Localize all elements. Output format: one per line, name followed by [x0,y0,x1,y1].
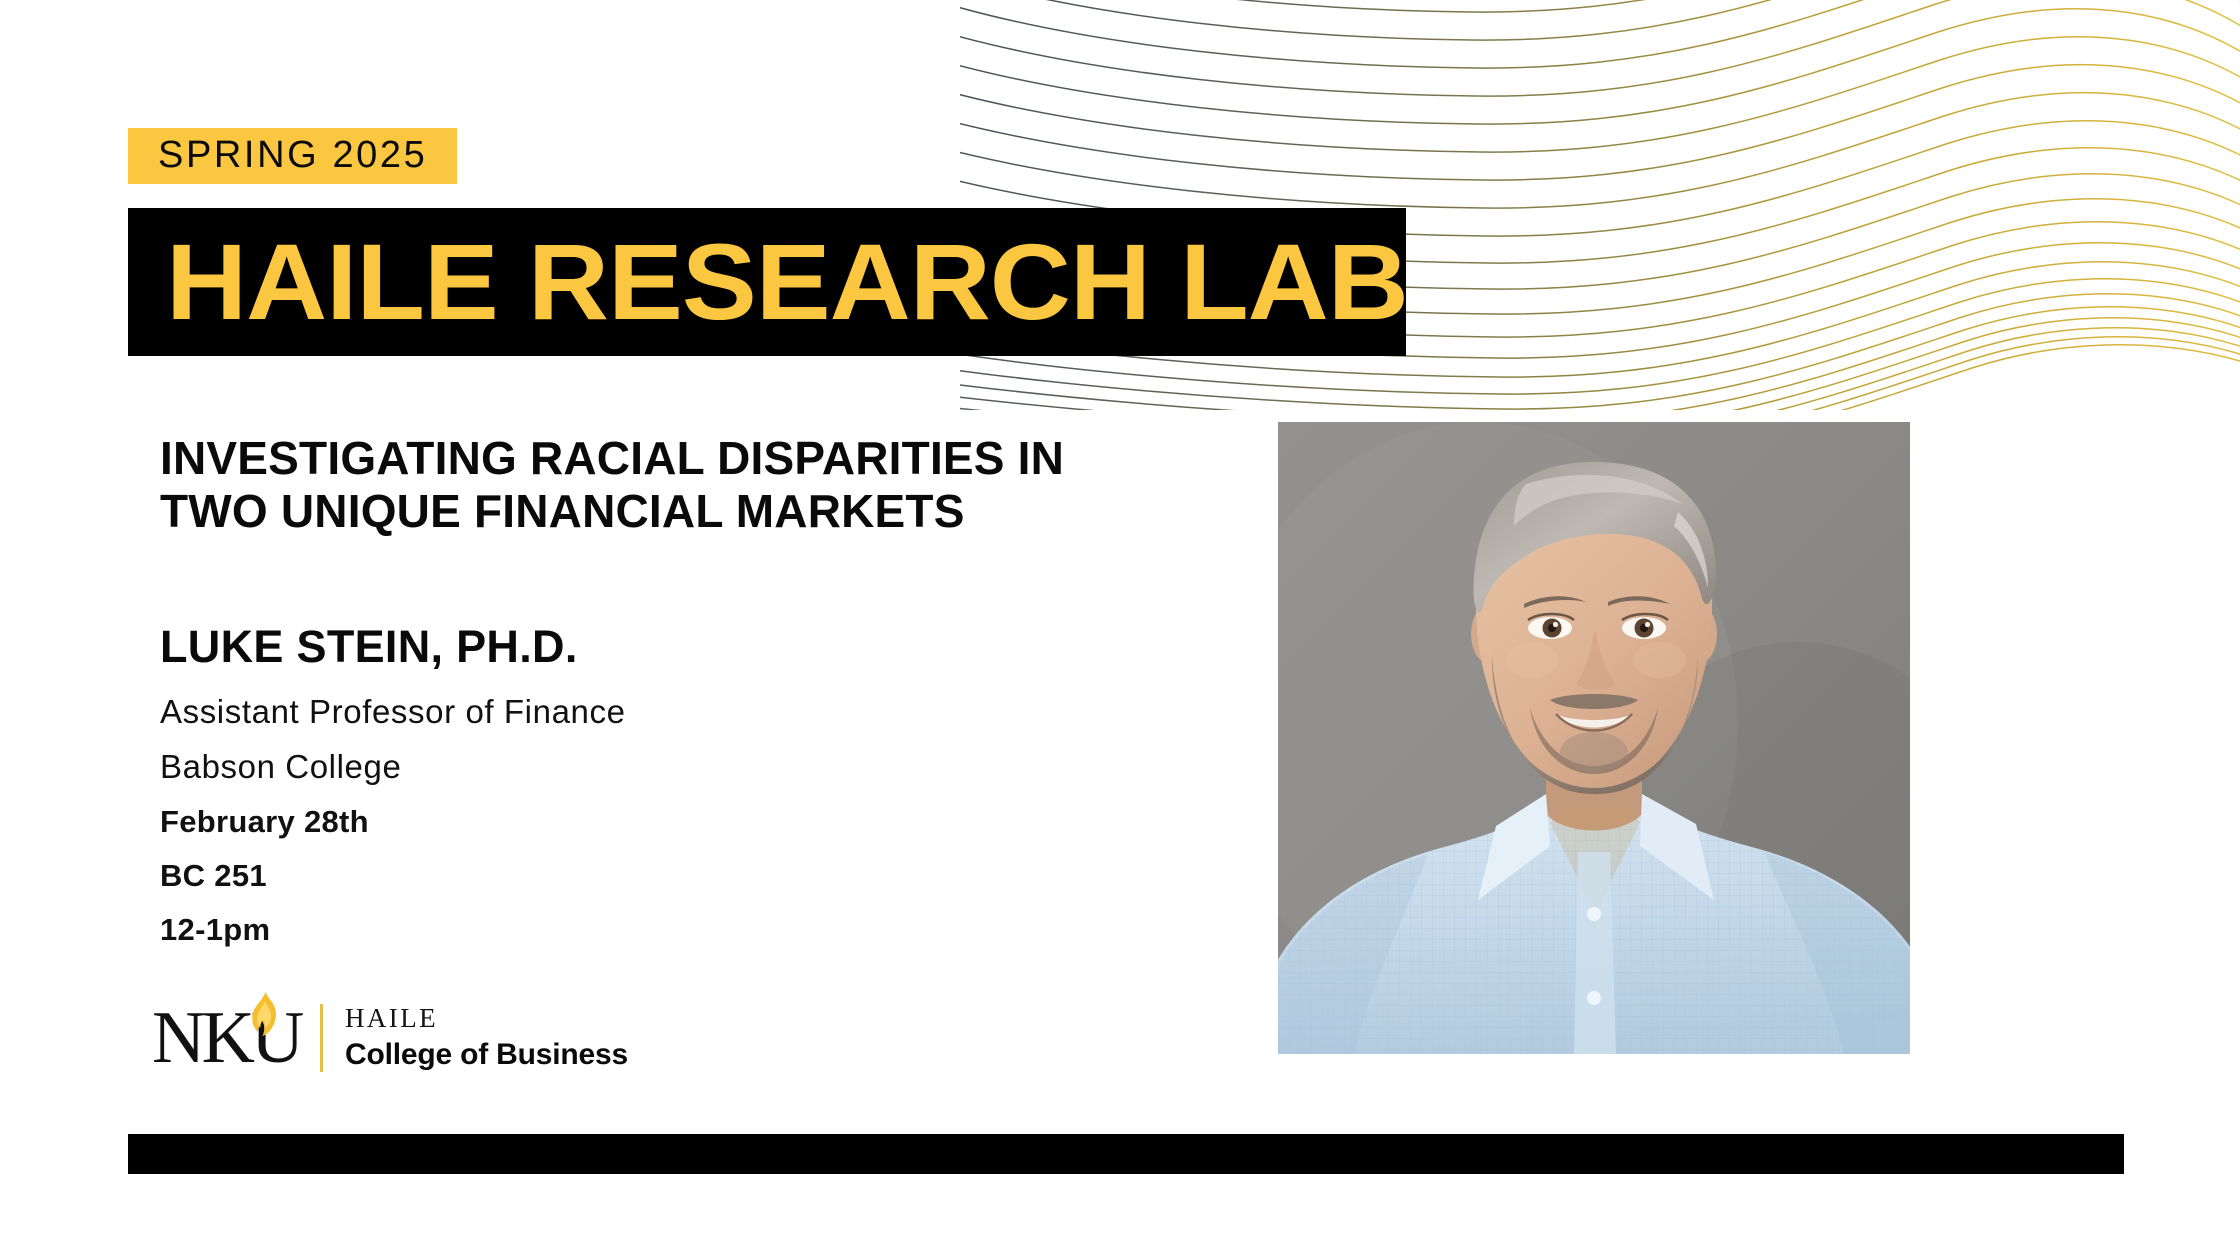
logo-divider [320,1004,323,1072]
speaker-name: LUKE STEIN, PH.D. [160,622,1220,672]
logo-haile-text: HAILE [345,1003,628,1034]
speaker-portrait [1278,422,1910,1054]
poster-canvas: SPRING 2025 HAILE RESEARCH LAB INVESTIGA… [0,0,2240,1260]
event-time: 12-1pm [160,911,1220,948]
event-date: February 28th [160,803,1220,840]
footer-bar [128,1134,2124,1174]
flame-icon [249,992,279,1036]
season-badge: SPRING 2025 [128,128,457,184]
nku-letters: NKU [152,1000,304,1076]
logo-wordmark: HAILE College of Business [345,1003,628,1073]
event-location: BC 251 [160,857,1220,894]
season-badge-label: SPRING 2025 [158,136,427,174]
speaker-affiliation: Babson College [160,747,1220,787]
talk-title-line-2: TWO UNIQUE FINANCIAL MARKETS [160,485,1240,538]
series-title-text: HAILE RESEARCH LAB [166,228,1408,336]
nku-haile-logo: NKU HAILE College of Business [152,1000,628,1076]
talk-title: INVESTIGATING RACIAL DISPARITIES IN TWO … [160,432,1240,539]
speaker-details: LUKE STEIN, PH.D. Assistant Professor of… [160,622,1220,965]
nku-wordmark: NKU [152,1000,304,1076]
series-title-banner: HAILE RESEARCH LAB [128,208,1406,356]
logo-college-text: College of Business [345,1037,628,1073]
talk-title-line-1: INVESTIGATING RACIAL DISPARITIES IN [160,432,1240,485]
speaker-position: Assistant Professor of Finance [160,692,1220,732]
